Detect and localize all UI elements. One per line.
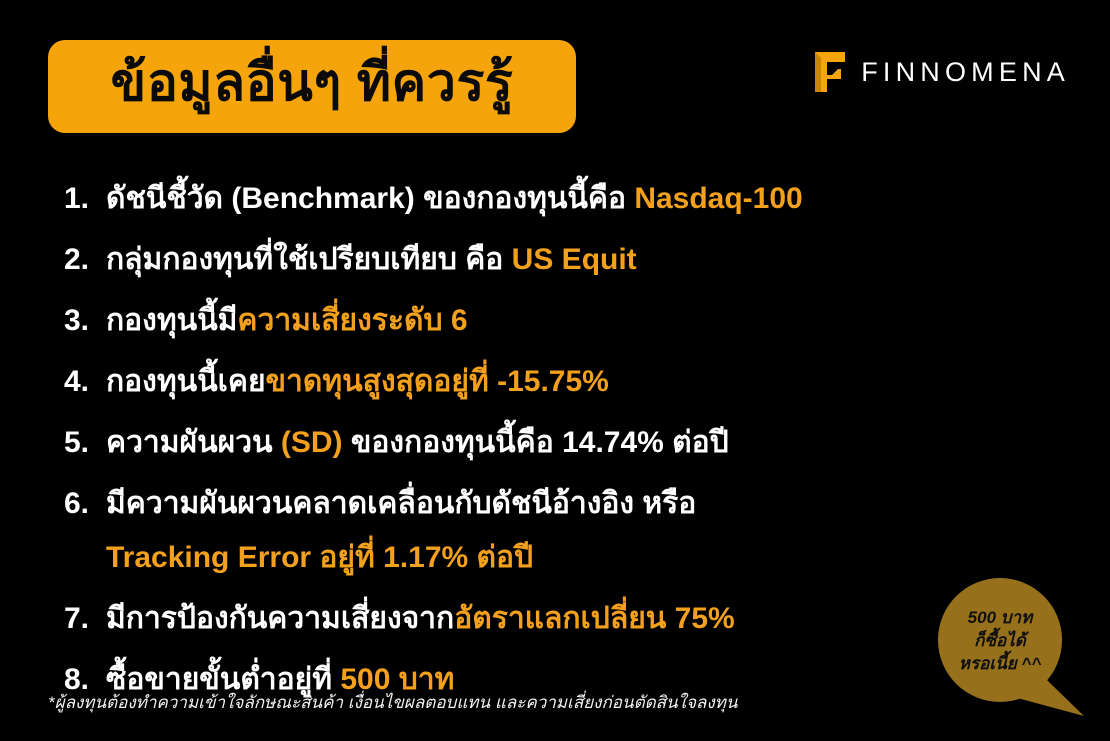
disclaimer-footnote: *ผู้ลงทุนต้องทำความเข้าใจลักษณะสินค้า เง… [48, 693, 737, 713]
list-item: 7.มีการป้องกันความเสี่ยงจากอัตราแลกเปลี่… [64, 592, 964, 646]
highlighted-text: Nasdaq-100 [634, 182, 802, 215]
plain-text: มีการป้องกันความเสี่ยงจาก [106, 602, 454, 635]
list-item-body: มีการป้องกันความเสี่ยงจากอัตราแลกเปลี่ยน… [106, 592, 964, 646]
list-item-line: กองทุนนี้มีความเสี่ยงระดับ 6 [106, 294, 964, 348]
list-item: 3.กองทุนนี้มีความเสี่ยงระดับ 6 [64, 294, 964, 348]
list-item-number: 6. [64, 477, 106, 531]
list-item-body: กองทุนนี้มีความเสี่ยงระดับ 6 [106, 294, 964, 348]
highlighted-text: ความเสี่ยงระดับ 6 [237, 304, 467, 337]
plain-text: ความผันผวน [106, 426, 281, 459]
page-title: ข้อมูลอื่นๆ ที่ควรรู้ [111, 57, 514, 109]
list-item-line: มีการป้องกันความเสี่ยงจากอัตราแลกเปลี่ยน… [106, 592, 964, 646]
highlighted-text: อัตราแลกเปลี่ยน 75% [454, 602, 735, 635]
plain-text: กองทุนนี้มี [106, 304, 237, 337]
fund-info-card: ข้อมูลอื่นๆ ที่ควรรู้ FINNOMENA 1.ดัชนีช… [0, 0, 1110, 741]
speech-bubble-body: 500 บาทก็ซื้อได้หรอเนี้ย ^^ [938, 578, 1062, 702]
highlighted-text: US Equit [512, 243, 637, 276]
list-item: 2.กลุ่มกองทุนที่ใช้เปรียบเทียบ คือ US Eq… [64, 233, 964, 287]
list-item: 6.มีความผันผวนคลาดเคลื่อนกับดัชนีอ้างอิง… [64, 477, 964, 585]
list-item-number: 2. [64, 233, 106, 287]
list-item-line: ดัชนีชี้วัด (Benchmark) ของกองทุนนี้คือ … [106, 172, 964, 226]
plain-text: กลุ่มกองทุนที่ใช้เปรียบเทียบ คือ [106, 243, 512, 276]
plain-text: กองทุนนี้เคย [106, 365, 266, 398]
page-title-badge: ข้อมูลอื่นๆ ที่ควรรู้ [48, 40, 576, 133]
plain-text: มีความผันผวนคลาดเคลื่อนกับดัชนีอ้างอิง ห… [106, 487, 696, 520]
plain-text: ของกองทุนนี้คือ 14.74% ต่อปี [343, 426, 729, 459]
highlighted-text: 500 บาท [340, 663, 454, 696]
list-item-body: กองทุนนี้เคยขาดทุนสูงสุดอยู่ที่ -15.75% [106, 355, 964, 409]
list-item: 4.กองทุนนี้เคยขาดทุนสูงสุดอยู่ที่ -15.75… [64, 355, 964, 409]
list-item-line: กลุ่มกองทุนที่ใช้เปรียบเทียบ คือ US Equi… [106, 233, 964, 287]
list-item-body: มีความผันผวนคลาดเคลื่อนกับดัชนีอ้างอิง ห… [106, 477, 964, 585]
highlighted-text: Tracking Error อยู่ที่ 1.17% ต่อปี [106, 541, 533, 574]
list-item-number: 4. [64, 355, 106, 409]
list-item-line: Tracking Error อยู่ที่ 1.17% ต่อปี [106, 531, 964, 585]
list-item-number: 1. [64, 172, 106, 226]
list-item: 5.ความผันผวน (SD) ของกองทุนนี้คือ 14.74%… [64, 416, 964, 470]
list-item: 1.ดัชนีชี้วัด (Benchmark) ของกองทุนนี้คื… [64, 172, 964, 226]
list-item-number: 7. [64, 592, 106, 646]
list-item-line: กองทุนนี้เคยขาดทุนสูงสุดอยู่ที่ -15.75% [106, 355, 964, 409]
speech-bubble-line: ก็ซื้อได้ [974, 629, 1026, 652]
highlighted-text: (SD) [281, 426, 343, 459]
speech-bubble-line: 500 บาท [968, 606, 1033, 629]
brand-name: FINNOMENA [861, 59, 1070, 86]
fund-facts-list: 1.ดัชนีชี้วัด (Benchmark) ของกองทุนนี้คื… [64, 172, 964, 714]
plain-text: ดัชนีชี้วัด (Benchmark) ของกองทุนนี้คือ [106, 182, 634, 215]
list-item-number: 5. [64, 416, 106, 470]
list-item-body: ดัชนีชี้วัด (Benchmark) ของกองทุนนี้คือ … [106, 172, 964, 226]
list-item-number: 3. [64, 294, 106, 348]
plain-text: ซื้อขายขั้นต่ำอยู่ที่ [106, 663, 340, 696]
highlighted-text: ขาดทุนสูงสุดอยู่ที่ -15.75% [266, 365, 609, 398]
speech-bubble: 500 บาทก็ซื้อได้หรอเนี้ย ^^ [938, 578, 1086, 718]
brand-logo: FINNOMENA [813, 49, 1070, 95]
list-item-line: ความผันผวน (SD) ของกองทุนนี้คือ 14.74% ต… [106, 416, 964, 470]
finnomena-f-logo-icon [813, 50, 847, 94]
list-item-body: ความผันผวน (SD) ของกองทุนนี้คือ 14.74% ต… [106, 416, 964, 470]
list-item-body: กลุ่มกองทุนที่ใช้เปรียบเทียบ คือ US Equi… [106, 233, 964, 287]
speech-bubble-line: หรอเนี้ย ^^ [959, 652, 1042, 675]
list-item-line: มีความผันผวนคลาดเคลื่อนกับดัชนีอ้างอิง ห… [106, 477, 964, 531]
